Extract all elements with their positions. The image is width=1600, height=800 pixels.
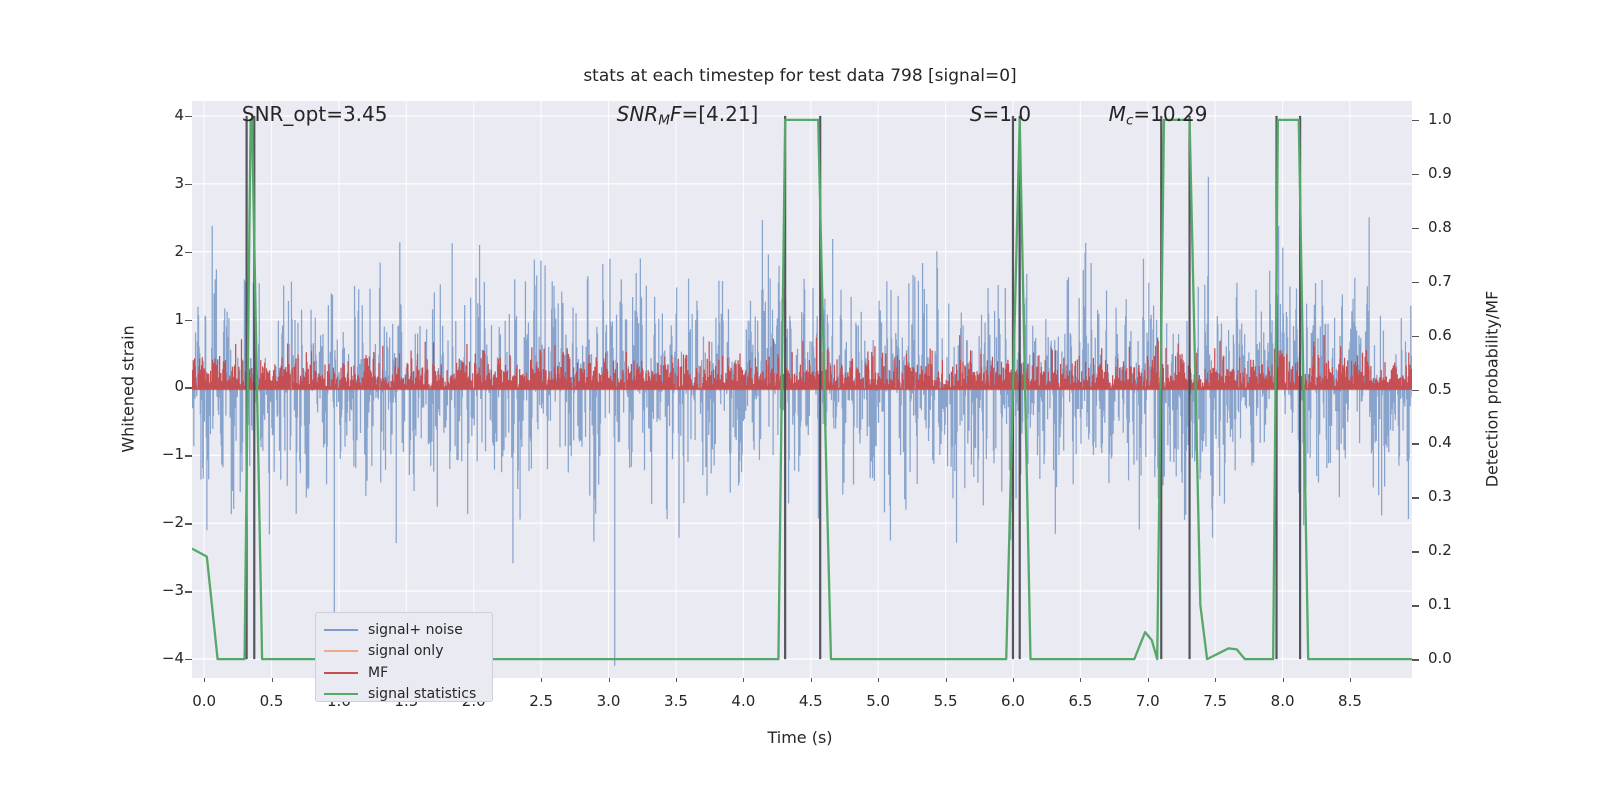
y-tick-mark-right — [1412, 282, 1419, 283]
x-tick-label: 4.0 — [731, 692, 755, 710]
legend-swatch-icon — [324, 672, 358, 674]
y-tick-label-right: 0.1 — [1428, 595, 1452, 613]
y-tick-mark-right — [1412, 659, 1419, 660]
figure-canvas: stats at each timestep for test data 798… — [0, 0, 1600, 800]
legend-item[interactable]: signal statistics — [324, 684, 484, 706]
x-tick-label: 5.5 — [934, 692, 958, 710]
x-tick-label: 8.0 — [1271, 692, 1295, 710]
y-tick-mark-right — [1412, 443, 1419, 444]
y-axis-label-left: Whitened strain — [119, 325, 138, 452]
x-tick-label: 0.0 — [192, 692, 216, 710]
y-tick-label-left: 3 — [174, 174, 184, 192]
x-tick-mark — [1283, 678, 1284, 682]
legend-item[interactable]: signal only — [324, 641, 484, 663]
y-tick-mark-right — [1412, 336, 1419, 337]
y-tick-label-right: 0.7 — [1428, 272, 1452, 290]
legend-swatch-icon — [324, 693, 358, 695]
y-tick-label-left: −2 — [162, 513, 184, 531]
y-tick-mark-left — [185, 387, 192, 388]
y-tick-label-right: 0.8 — [1428, 218, 1452, 236]
annotation-snr-mf: SNRMF=[4.21] — [617, 102, 759, 128]
y-tick-mark-left — [185, 523, 192, 524]
y-tick-mark-left — [185, 455, 192, 456]
y-axis-label-right: Detection probability/MF — [1483, 291, 1502, 488]
y-tick-mark-right — [1412, 551, 1419, 552]
y-tick-label-right: 0.5 — [1428, 380, 1452, 398]
x-tick-mark — [743, 678, 744, 682]
y-tick-mark-right — [1412, 120, 1419, 121]
y-tick-label-right: 0.3 — [1428, 487, 1452, 505]
y-tick-mark-left — [185, 252, 192, 253]
y-tick-label-right: 1.0 — [1428, 110, 1452, 128]
legend-swatch-icon — [324, 629, 358, 631]
plot-area — [192, 101, 1412, 678]
x-tick-label: 8.5 — [1338, 692, 1362, 710]
x-tick-label: 4.5 — [799, 692, 823, 710]
x-tick-label: 7.0 — [1136, 692, 1160, 710]
y-tick-mark-left — [185, 659, 192, 660]
x-tick-label: 3.0 — [597, 692, 621, 710]
legend-item[interactable]: signal+ noise — [324, 619, 484, 641]
legend-label: MF — [368, 666, 388, 680]
y-tick-mark-left — [185, 591, 192, 592]
legend-swatch-icon — [324, 650, 358, 652]
legend-label: signal only — [368, 644, 443, 658]
y-tick-label-right: 0.0 — [1428, 649, 1452, 667]
y-tick-mark-right — [1412, 174, 1419, 175]
legend-item[interactable]: MF — [324, 662, 484, 684]
y-tick-label-left: −3 — [162, 581, 184, 599]
x-tick-mark — [676, 678, 677, 682]
y-tick-mark-left — [185, 116, 192, 117]
chart-title: stats at each timestep for test data 798… — [0, 66, 1600, 86]
x-tick-label: 7.5 — [1203, 692, 1227, 710]
series-signal-noise — [192, 177, 1412, 666]
y-tick-mark-right — [1412, 390, 1419, 391]
x-tick-mark — [1013, 678, 1014, 682]
y-tick-mark-right — [1412, 228, 1419, 229]
y-tick-label-right: 0.2 — [1428, 541, 1452, 559]
x-tick-mark — [1215, 678, 1216, 682]
y-tick-label-left: −1 — [162, 445, 184, 463]
x-tick-label: 3.5 — [664, 692, 688, 710]
x-tick-label: 0.5 — [260, 692, 284, 710]
y-tick-label-left: 4 — [174, 106, 184, 124]
x-tick-mark — [1350, 678, 1351, 682]
y-tick-label-left: 1 — [174, 310, 184, 328]
legend-label: signal statistics — [368, 687, 476, 701]
y-tick-label-right: 0.4 — [1428, 433, 1452, 451]
x-tick-mark — [609, 678, 610, 682]
x-tick-label: 6.5 — [1068, 692, 1092, 710]
annotation-chirp-mass: Mc=10.29 — [1109, 102, 1208, 128]
y-tick-label-left: −4 — [162, 649, 184, 667]
annotation-snr-opt: SNR_opt=3.45 — [242, 102, 388, 126]
x-axis-label: Time (s) — [0, 728, 1600, 747]
y-tick-mark-left — [185, 320, 192, 321]
x-tick-mark — [811, 678, 812, 682]
annotation-s-stat: S=1.0 — [970, 102, 1031, 126]
x-tick-label: 2.5 — [529, 692, 553, 710]
x-tick-mark — [541, 678, 542, 682]
x-tick-mark — [204, 678, 205, 682]
y-tick-mark-left — [185, 184, 192, 185]
x-tick-mark — [272, 678, 273, 682]
x-tick-mark — [946, 678, 947, 682]
y-tick-mark-right — [1412, 605, 1419, 606]
x-tick-mark — [1148, 678, 1149, 682]
y-tick-mark-right — [1412, 497, 1419, 498]
plot-canvas — [192, 101, 1412, 678]
y-tick-label-left: 0 — [174, 377, 184, 395]
x-tick-mark — [878, 678, 879, 682]
x-tick-label: 6.0 — [1001, 692, 1025, 710]
legend-label: signal+ noise — [368, 623, 463, 637]
y-tick-label-right: 0.9 — [1428, 164, 1452, 182]
x-tick-mark — [1080, 678, 1081, 682]
x-tick-label: 5.0 — [866, 692, 890, 710]
legend[interactable]: signal+ noisesignal onlyMFsignal statist… — [315, 612, 493, 702]
y-tick-label-left: 2 — [174, 242, 184, 260]
y-tick-label-right: 0.6 — [1428, 326, 1452, 344]
